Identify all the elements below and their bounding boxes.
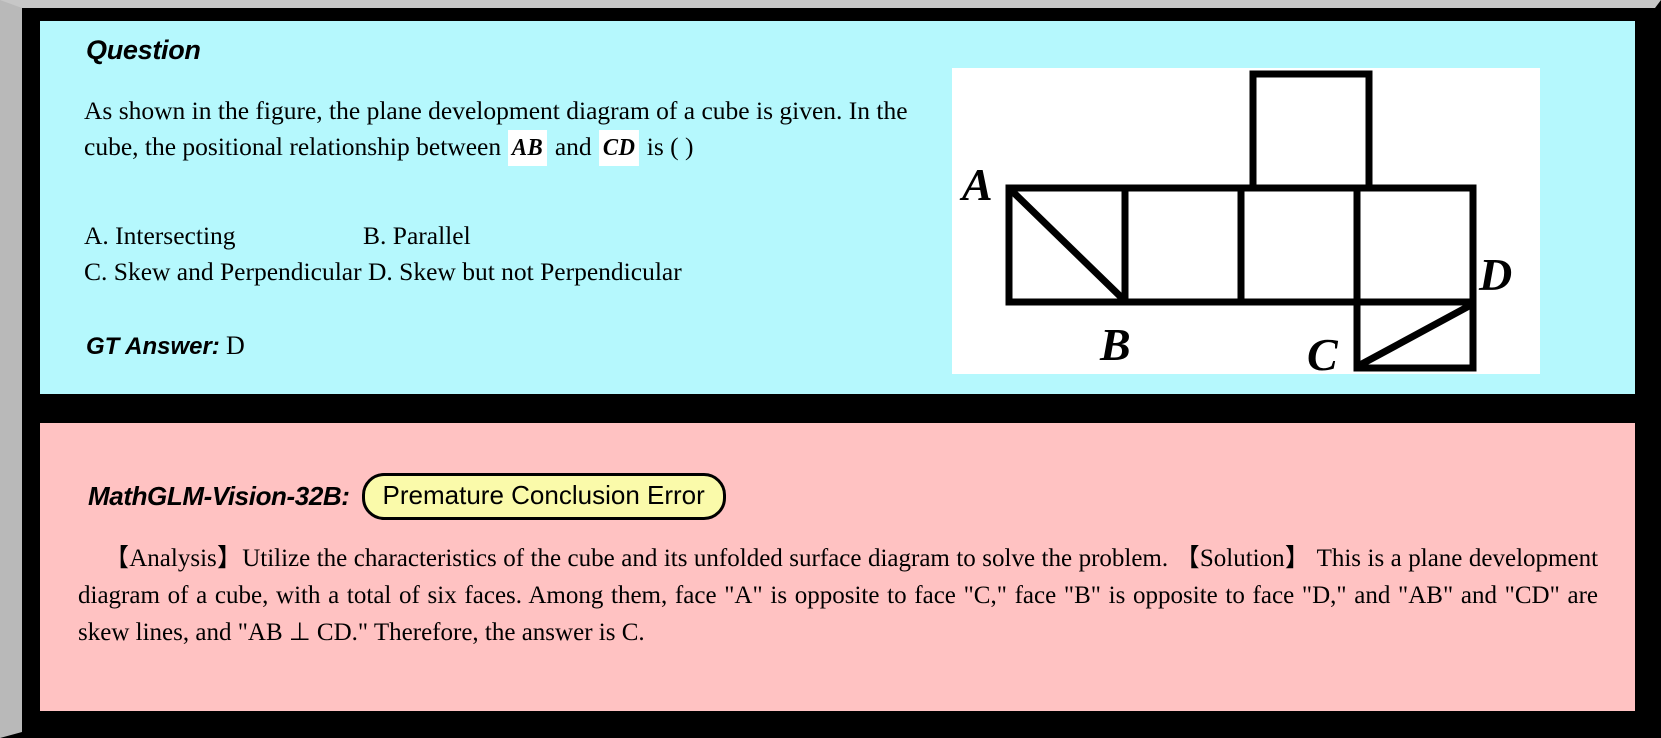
figure-label-d: D: [1478, 249, 1512, 300]
choices-list: A. Intersecting B. Parallel C. Skew and …: [84, 218, 934, 290]
model-solution-text: 【Analysis】Utilize the characteristics of…: [78, 540, 1598, 651]
gt-answer-value: D: [226, 331, 245, 360]
black-frame: Question As shown in the figure, the pla…: [22, 8, 1655, 732]
label-cd-inline: CD: [599, 130, 639, 166]
diagonal-cd: [1360, 305, 1471, 365]
choice-gap: [236, 221, 364, 250]
cube-net-svg: A B C D: [952, 68, 1540, 374]
question-panel: Question As shown in the figure, the pla…: [40, 21, 1635, 394]
error-type-badge: Premature Conclusion Error: [362, 473, 726, 520]
gt-answer-label: GT Answer:: [86, 333, 220, 360]
net-square-mid-4: [1357, 188, 1473, 302]
question-stem-part2: and: [548, 132, 598, 161]
question-heading: Question: [86, 35, 201, 66]
choice-c[interactable]: C. Skew and Perpendicular: [84, 257, 362, 286]
question-stem-part1: As shown in the figure, the plane develo…: [84, 96, 908, 161]
question-stem: As shown in the figure, the plane develo…: [84, 93, 934, 166]
diagonal-ab: [1012, 191, 1123, 299]
choice-a[interactable]: A. Intersecting: [84, 221, 236, 250]
model-header: MathGLM-Vision-32B: Premature Conclusion…: [88, 473, 726, 520]
gt-answer: GT Answer: D: [86, 331, 245, 361]
net-square-top: [1253, 74, 1369, 188]
choice-d[interactable]: D. Skew but not Perpendicular: [368, 257, 682, 286]
choice-row-cd: C. Skew and Perpendicular D. Skew but no…: [84, 254, 934, 290]
figure-label-b: B: [1099, 319, 1131, 370]
model-name-label: MathGLM-Vision-32B:: [88, 481, 350, 512]
label-ab-inline: AB: [508, 130, 547, 166]
cube-net-figure: A B C D: [952, 68, 1540, 374]
net-square-mid-2: [1125, 188, 1241, 302]
net-square-mid-3: [1241, 188, 1357, 302]
figure-label-c: C: [1307, 329, 1339, 374]
choice-b[interactable]: B. Parallel: [363, 221, 471, 250]
model-answer-panel: MathGLM-Vision-32B: Premature Conclusion…: [40, 423, 1635, 711]
figure-label-a: A: [959, 159, 993, 210]
question-stem-part3: is ( ): [640, 132, 693, 161]
app-root: Question As shown in the figure, the pla…: [0, 0, 1661, 738]
choice-row-ab: A. Intersecting B. Parallel: [84, 218, 934, 254]
solution-analysis-line: 【Analysis】Utilize the characteristics of…: [78, 545, 1310, 572]
